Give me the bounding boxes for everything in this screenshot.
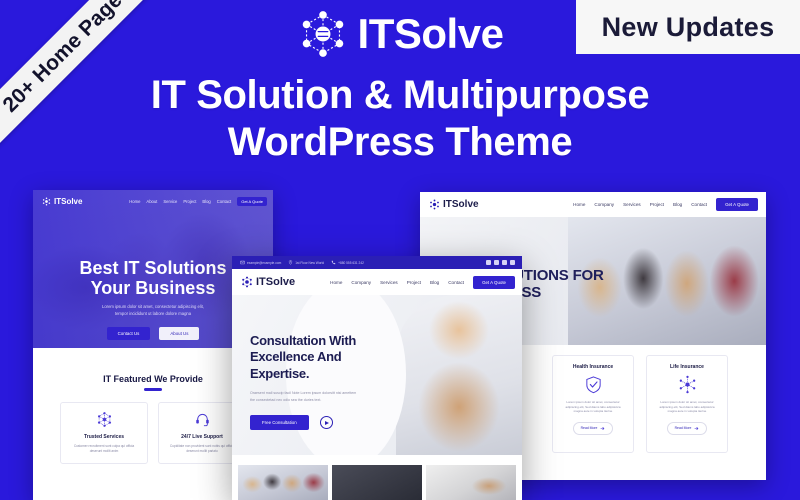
map-pin-icon bbox=[288, 260, 293, 265]
arrow-right-icon bbox=[694, 426, 699, 431]
center-hero-copy: Consultation With Excellence And Experti… bbox=[250, 333, 426, 430]
left-contact-us-button[interactable]: Contact Us bbox=[107, 327, 151, 340]
gallery-thumb-2[interactable] bbox=[332, 465, 422, 500]
right-nav-home[interactable]: Home bbox=[573, 202, 585, 207]
twitter-icon[interactable] bbox=[494, 260, 499, 265]
left-about-us-button[interactable]: About Us bbox=[159, 327, 199, 340]
brand-name: ITSolve bbox=[358, 10, 504, 58]
left-nav-contact[interactable]: Contact bbox=[217, 199, 231, 204]
center-nav-home[interactable]: Home bbox=[330, 280, 342, 285]
right-logo-text: ITSolve bbox=[443, 199, 479, 210]
left-nav-service[interactable]: Service bbox=[163, 199, 177, 204]
center-topbar-phone-text: +880 555 631 242 bbox=[338, 261, 364, 265]
left-feature-card-trusted[interactable]: Trusted Services Customer recruitment su… bbox=[60, 402, 148, 464]
left-feature-title-support: 24/7 Live Support bbox=[181, 434, 223, 440]
left-feature-body-trusted-2: deserunt mollit anim bbox=[90, 449, 119, 454]
right-card-readmore-label-health: Read More bbox=[581, 426, 598, 430]
new-updates-badge: New Updates bbox=[576, 0, 800, 54]
right-card-body-life-3: magna aute in volupta tterine bbox=[668, 409, 707, 414]
center-logo-text: ITSolve bbox=[256, 276, 295, 288]
right-nav-project[interactable]: Project bbox=[650, 202, 664, 207]
network-hexagon-icon bbox=[678, 375, 697, 394]
left-nav-blog[interactable]: Blog bbox=[202, 199, 210, 204]
left-nav-project[interactable]: Project bbox=[183, 199, 196, 204]
center-get-quote-button[interactable]: Get A Quote bbox=[473, 276, 515, 289]
center-hero-line-1: Consultation With bbox=[250, 333, 426, 349]
network-hexagon-icon bbox=[241, 276, 253, 288]
center-gallery-strip bbox=[232, 455, 522, 500]
network-hexagon-icon bbox=[42, 197, 51, 206]
center-topbar-address[interactable]: 1st Floor New World bbox=[288, 260, 324, 265]
center-nav-blog[interactable]: Blog bbox=[430, 280, 439, 285]
new-updates-label: New Updates bbox=[602, 12, 775, 43]
headline-line-2: WordPress Theme bbox=[0, 119, 800, 166]
right-get-quote-button[interactable]: Get A Quote bbox=[716, 198, 758, 211]
network-hexagon-icon bbox=[96, 411, 113, 428]
facebook-icon[interactable] bbox=[486, 260, 491, 265]
gallery-thumb-1[interactable] bbox=[238, 465, 328, 500]
center-topbar-address-text: 1st Floor New World bbox=[295, 261, 324, 265]
center-topbar-social[interactable] bbox=[486, 260, 522, 265]
center-nav-services[interactable]: Services bbox=[380, 280, 398, 285]
center-free-consultation-button[interactable]: Free Consultation bbox=[250, 415, 309, 430]
center-hero-paragraph-1: Oraesent mall suscip facil Note Lorem ip… bbox=[250, 390, 426, 397]
right-card-body-health-3: magna aute in volupta tterine bbox=[574, 409, 613, 414]
center-nav-contact[interactable]: Contact bbox=[448, 280, 464, 285]
page-title: IT Solution & Multipurpose WordPress The… bbox=[0, 72, 800, 166]
right-navbar[interactable]: ITSolve Home Company Services Project Bl… bbox=[420, 192, 766, 217]
center-topbar-email[interactable]: example@example.com bbox=[240, 260, 281, 265]
center-hero: Consultation With Excellence And Experti… bbox=[232, 295, 522, 455]
center-topbar-email-text: example@example.com bbox=[247, 261, 281, 265]
left-nav-about[interactable]: About bbox=[146, 199, 157, 204]
right-card-readmore-health[interactable]: Read More bbox=[573, 422, 614, 435]
network-hexagon-icon bbox=[297, 8, 349, 60]
center-hero-line-2: Excellence And bbox=[250, 349, 426, 365]
headset-support-icon bbox=[194, 411, 211, 428]
right-card-readmore-label-life: Read More bbox=[675, 426, 692, 430]
left-feature-title-trusted: Trusted Services bbox=[84, 434, 124, 440]
play-circle-icon[interactable] bbox=[320, 416, 333, 429]
right-card-readmore-life[interactable]: Read More bbox=[667, 422, 708, 435]
right-nav-services[interactable]: Services bbox=[623, 202, 641, 207]
play-triangle bbox=[325, 421, 329, 425]
right-nav-company[interactable]: Company bbox=[594, 202, 614, 207]
center-navbar[interactable]: ITSolve Home Company Services Project Bl… bbox=[232, 269, 522, 295]
right-nav-blog[interactable]: Blog bbox=[673, 202, 682, 207]
shield-check-icon bbox=[584, 375, 603, 394]
network-hexagon-icon bbox=[429, 199, 440, 210]
left-navbar[interactable]: ITSolve Home About Service Project Blog … bbox=[33, 190, 273, 212]
center-topbar-phone[interactable]: +880 555 631 242 bbox=[331, 260, 364, 265]
left-feature-body-support-2: deserunt mollit pariatu bbox=[186, 449, 217, 454]
center-theme-mockup[interactable]: example@example.com 1st Floor New World … bbox=[232, 256, 522, 500]
right-card-title-life: Life Insurance bbox=[670, 364, 704, 370]
envelope-icon bbox=[240, 260, 245, 265]
arrow-right-icon bbox=[600, 426, 605, 431]
right-card-health[interactable]: Health Insurance Lorem ipsum dolor sit a… bbox=[552, 355, 634, 453]
center-nav-project[interactable]: Project bbox=[407, 280, 421, 285]
linkedin-icon[interactable] bbox=[502, 260, 507, 265]
right-card-title-health: Health Insurance bbox=[573, 364, 613, 370]
left-get-quote-button[interactable]: Get A Quote bbox=[237, 197, 267, 206]
left-logo-text: ITSolve bbox=[54, 197, 82, 206]
center-hero-line-3: Expertise. bbox=[250, 366, 426, 382]
center-nav-company[interactable]: Company bbox=[351, 280, 371, 285]
left-section-rule bbox=[144, 388, 162, 391]
phone-icon bbox=[331, 260, 336, 265]
center-topbar: example@example.com 1st Floor New World … bbox=[232, 256, 522, 269]
center-hero-paragraph-2: the consectetad nec odio sea the duries … bbox=[250, 397, 426, 404]
gallery-thumb-3[interactable] bbox=[426, 465, 516, 500]
left-nav-home[interactable]: Home bbox=[129, 199, 140, 204]
right-card-life[interactable]: Life Insurance Lorem ipsum dolor sit ame… bbox=[646, 355, 728, 453]
instagram-icon[interactable] bbox=[510, 260, 515, 265]
promo-banner: 20+ Home Page New Updates ITSolve IT Sol… bbox=[0, 0, 800, 500]
headline-line-1: IT Solution & Multipurpose bbox=[0, 72, 800, 119]
right-nav-contact[interactable]: Contact bbox=[691, 202, 707, 207]
